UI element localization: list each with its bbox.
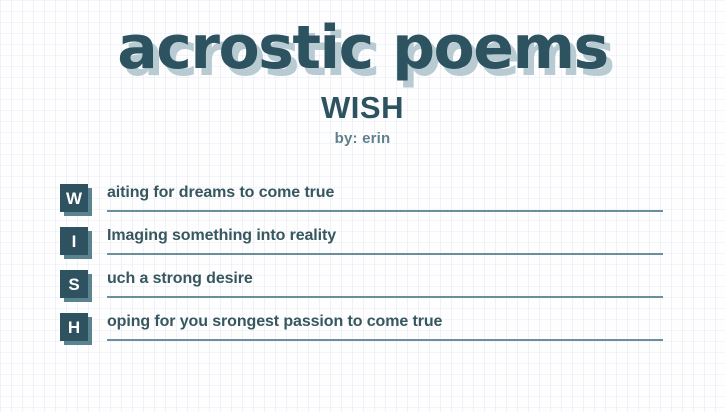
acrostic-line-body: uch a strong desire: [107, 268, 663, 298]
author-byline: by: erin: [0, 131, 725, 146]
acrostic-line-text: oping for you srongest passion to come t…: [107, 311, 663, 333]
acrostic-lines-list: W aiting for dreams to come true I Imagi…: [0, 182, 725, 354]
list-item: H oping for you srongest passion to come…: [60, 311, 725, 354]
acrostic-letter-box-h: H: [60, 313, 88, 341]
letter-box-face: S: [60, 270, 88, 298]
acrostic-letter: H: [68, 319, 80, 336]
slide-header: acrostic poems WISH by: erin: [0, 0, 725, 146]
acrostic-line-text: aiting for dreams to come true: [107, 182, 663, 204]
page-title: acrostic poems: [0, 18, 725, 78]
list-item: S uch a strong desire: [60, 268, 725, 311]
acrostic-letter-box-s: S: [60, 270, 88, 298]
letter-box-face: W: [60, 184, 88, 212]
acrostic-line-rule: [107, 210, 663, 212]
acrostic-letter: W: [66, 190, 82, 207]
acrostic-poem-slide: acrostic poems WISH by: erin W aiting fo…: [0, 0, 725, 412]
acrostic-line-body: Imaging something into reality: [107, 225, 663, 255]
list-item: I Imaging something into reality: [60, 225, 725, 268]
list-item: W aiting for dreams to come true: [60, 182, 725, 225]
acrostic-line-text: Imaging something into reality: [107, 225, 663, 247]
poem-subject-word: WISH: [0, 92, 725, 123]
acrostic-line-body: aiting for dreams to come true: [107, 182, 663, 212]
acrostic-line-rule: [107, 339, 663, 341]
acrostic-letter-box-w: W: [60, 184, 88, 212]
acrostic-line-text: uch a strong desire: [107, 268, 663, 290]
acrostic-line-rule: [107, 296, 663, 298]
acrostic-letter: S: [68, 276, 79, 293]
letter-box-face: H: [60, 313, 88, 341]
acrostic-line-body: oping for you srongest passion to come t…: [107, 311, 663, 341]
letter-box-face: I: [60, 227, 88, 255]
acrostic-letter-box-i: I: [60, 227, 88, 255]
acrostic-letter: I: [72, 233, 77, 250]
acrostic-line-rule: [107, 253, 663, 255]
